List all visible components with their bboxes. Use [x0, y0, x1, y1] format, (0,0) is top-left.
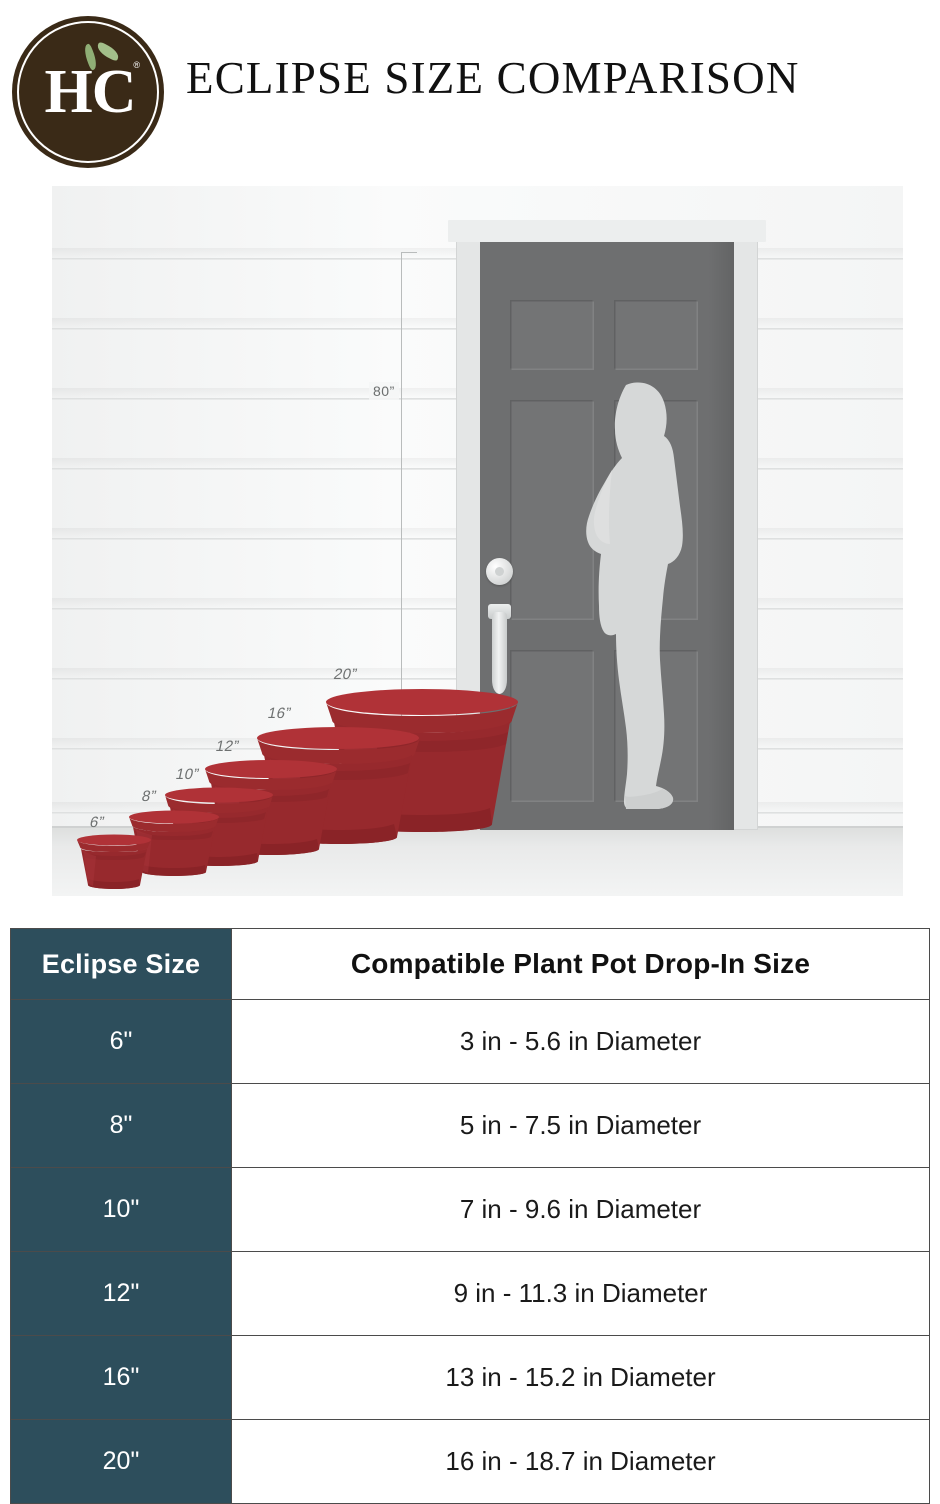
cell-compatible-size: 5 in - 7.5 in Diameter [232, 1084, 930, 1168]
table-row: 20" 16 in - 18.7 in Diameter [11, 1420, 930, 1504]
table-row: 16" 13 in - 15.2 in Diameter [11, 1336, 930, 1420]
door-header-trim [448, 220, 766, 242]
pot-label-10in: 10” [174, 766, 201, 783]
cell-eclipse-size: 6" [11, 1000, 232, 1084]
table-header-row: Eclipse Size Compatible Plant Pot Drop-I… [11, 929, 930, 1000]
door-shading [708, 242, 734, 830]
column-header-eclipse-size: Eclipse Size [11, 929, 232, 1000]
door-knob-icon [486, 558, 513, 585]
door-height-label: 80” [369, 382, 399, 400]
cell-compatible-size: 3 in - 5.6 in Diameter [232, 1000, 930, 1084]
cell-compatible-size: 9 in - 11.3 in Diameter [232, 1252, 930, 1336]
door-panel [614, 300, 698, 370]
table-row: 10" 7 in - 9.6 in Diameter [11, 1168, 930, 1252]
dimension-tick-top [401, 252, 417, 253]
door-panel [510, 300, 594, 370]
cell-compatible-size: 13 in - 15.2 in Diameter [232, 1336, 930, 1420]
eclipse-planter-size-comparison-photo: 80” 20” 16” [52, 186, 903, 896]
table-row: 8" 5 in - 7.5 in Diameter [11, 1084, 930, 1168]
door-handle-icon [492, 612, 507, 694]
planter-pot-6in [76, 834, 152, 889]
cell-eclipse-size: 10" [11, 1168, 232, 1252]
cell-eclipse-size: 8" [11, 1084, 232, 1168]
hc-circle-logo: HC ® [12, 16, 164, 168]
pot-label-16in: 16” [266, 705, 293, 722]
logo-text-wrap: HC ® [12, 16, 164, 168]
table-row: 6" 3 in - 5.6 in Diameter [11, 1000, 930, 1084]
page-header: HC ® ECLIPSE SIZE COMPARISON [0, 0, 940, 182]
size-comparison-infographic: HC ® ECLIPSE SIZE COMPARISON [0, 0, 940, 1500]
size-compatibility-table: Eclipse Size Compatible Plant Pot Drop-I… [10, 928, 930, 1504]
cell-eclipse-size: 12" [11, 1252, 232, 1336]
cell-eclipse-size: 16" [11, 1336, 232, 1420]
cell-compatible-size: 7 in - 9.6 in Diameter [232, 1168, 930, 1252]
pot-label-12in: 12” [214, 738, 241, 755]
person-silhouette [560, 378, 710, 840]
table-row: 12" 9 in - 11.3 in Diameter [11, 1252, 930, 1336]
column-header-compatible-size: Compatible Plant Pot Drop-In Size [232, 929, 930, 1000]
pot-label-20in: 20” [332, 666, 359, 683]
registered-trademark-icon: ® [133, 60, 140, 70]
cell-compatible-size: 16 in - 18.7 in Diameter [232, 1420, 930, 1504]
logo-monogram: HC [12, 61, 164, 123]
cell-eclipse-size: 20" [11, 1420, 232, 1504]
page-title: ECLIPSE SIZE COMPARISON [186, 52, 916, 104]
